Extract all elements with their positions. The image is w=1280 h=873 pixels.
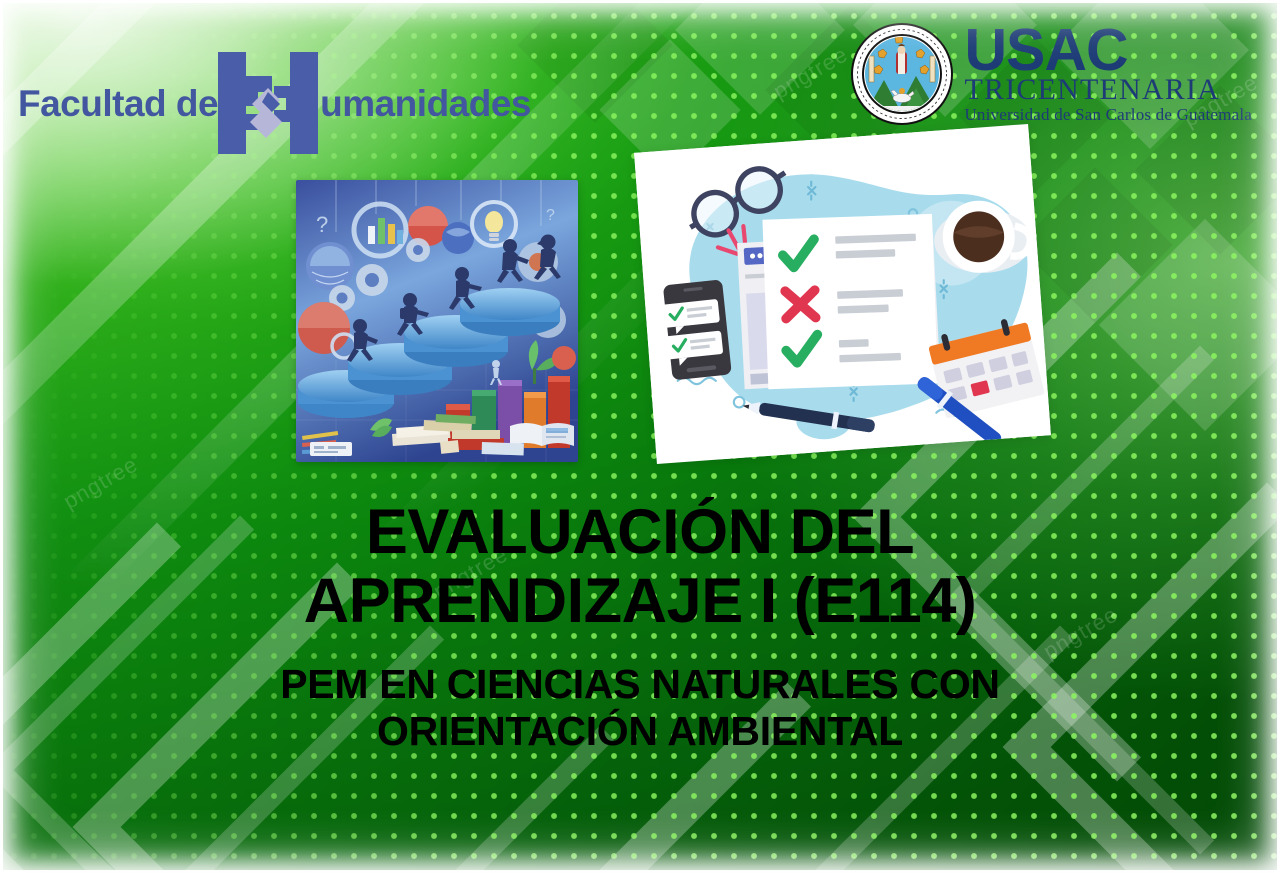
title-block: EVALUACIÓN DEL APRENDIZAJE I (E114) PEM …	[0, 498, 1280, 756]
presentation-slide: pngtreepngtreepngtreepngtreepngtree Facu…	[0, 0, 1280, 873]
usac-tricentenaria-text: TRICENTENARIA	[964, 75, 1220, 105]
page-title: EVALUACIÓN DEL APRENDIZAJE I (E114)	[0, 498, 1280, 637]
subtitle-line-1: PEM EN CIENCIAS NATURALES CON	[280, 661, 999, 707]
usac-seal-icon	[850, 22, 954, 126]
page-subtitle: PEM EN CIENCIAS NATURALES CON ORIENTACIÓ…	[0, 661, 1280, 756]
faculty-logo: Facultad de umanidades	[18, 48, 531, 158]
main-title-line-2: APRENDIZAJE I (E114)	[304, 566, 977, 636]
subtitle-line-2: ORIENTACIÓN AMBIENTAL	[377, 708, 903, 754]
usac-acronym-text: USAC	[964, 25, 1127, 77]
usac-wordmark: USAC TRICENTENARIA Universidad de San Ca…	[964, 25, 1252, 124]
svg-text:?: ?	[546, 207, 555, 224]
learning-stairs-illustration: ? ?	[296, 180, 578, 462]
usac-university-text: Universidad de San Carlos de Guatemala	[964, 106, 1252, 124]
faculty-logo-text-left: Facultad de	[18, 85, 218, 122]
faculty-logo-text-right: umanidades	[320, 85, 531, 122]
evaluation-desk-illustration	[634, 124, 1051, 464]
svg-text:?: ?	[316, 212, 328, 237]
h-monogram-icon	[212, 48, 324, 158]
usac-logo: USAC TRICENTENARIA Universidad de San Ca…	[850, 22, 1252, 126]
main-title-line-1: EVALUACIÓN DEL	[366, 497, 914, 567]
